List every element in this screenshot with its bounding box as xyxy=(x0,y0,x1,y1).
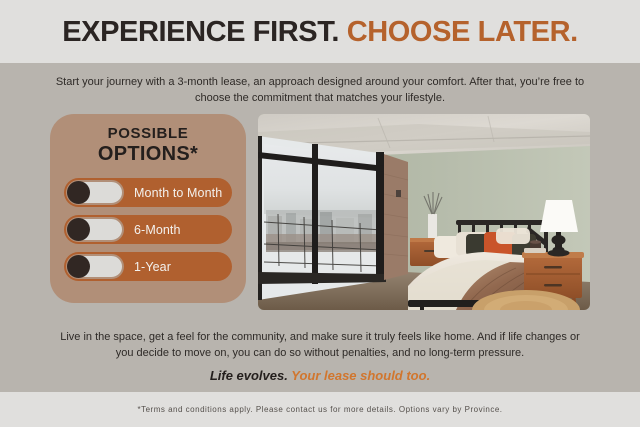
intro-paragraph: Start your journey with a 3-month lease,… xyxy=(55,74,585,106)
bedroom-photo-illustration xyxy=(258,114,590,310)
headline-primary: EXPERIENCE FIRST. xyxy=(62,16,339,48)
lower-paragraph: Live in the space, get a feel for the co… xyxy=(55,329,585,361)
footer-disclaimer: *Terms and conditions apply. Please cont… xyxy=(137,405,502,414)
lease-option-list: Month to Month 6-Month 1-Year xyxy=(64,178,232,281)
lease-option-1-year[interactable]: 1-Year xyxy=(64,252,232,281)
lease-option-6-month[interactable]: 6-Month xyxy=(64,215,232,244)
bedroom-photo xyxy=(258,114,590,310)
tagline: Life evolves. Your lease should too. xyxy=(55,368,585,383)
tagline-primary: Life evolves. xyxy=(210,368,288,383)
header-band: EXPERIENCE FIRST. CHOOSE LATER. xyxy=(0,0,640,63)
toggle-switch-icon[interactable] xyxy=(66,254,124,279)
lease-option-month-to-month[interactable]: Month to Month xyxy=(64,178,232,207)
toggle-switch-icon[interactable] xyxy=(66,180,124,205)
toggle-switch-icon[interactable] xyxy=(66,217,124,242)
lease-option-label: Month to Month xyxy=(134,186,222,200)
options-title-line1: POSSIBLE xyxy=(64,126,232,141)
headline-accent: CHOOSE LATER. xyxy=(347,16,578,48)
options-title-line2: OPTIONS* xyxy=(64,144,232,164)
options-card-title: POSSIBLE OPTIONS* xyxy=(64,126,232,164)
lease-option-label: 6-Month xyxy=(134,223,181,237)
footer-band: *Terms and conditions apply. Please cont… xyxy=(0,392,640,427)
possible-options-card: POSSIBLE OPTIONS* Month to Month 6-Month xyxy=(50,114,246,303)
toggle-knob-icon xyxy=(67,255,90,278)
toggle-knob-icon xyxy=(67,218,90,241)
toggle-knob-icon xyxy=(67,181,90,204)
poster-root: EXPERIENCE FIRST. CHOOSE LATER. Start yo… xyxy=(0,0,640,427)
tagline-accent: Your lease should too. xyxy=(291,368,430,383)
lease-option-label: 1-Year xyxy=(134,260,171,274)
page-title: EXPERIENCE FIRST. CHOOSE LATER. xyxy=(62,16,578,47)
